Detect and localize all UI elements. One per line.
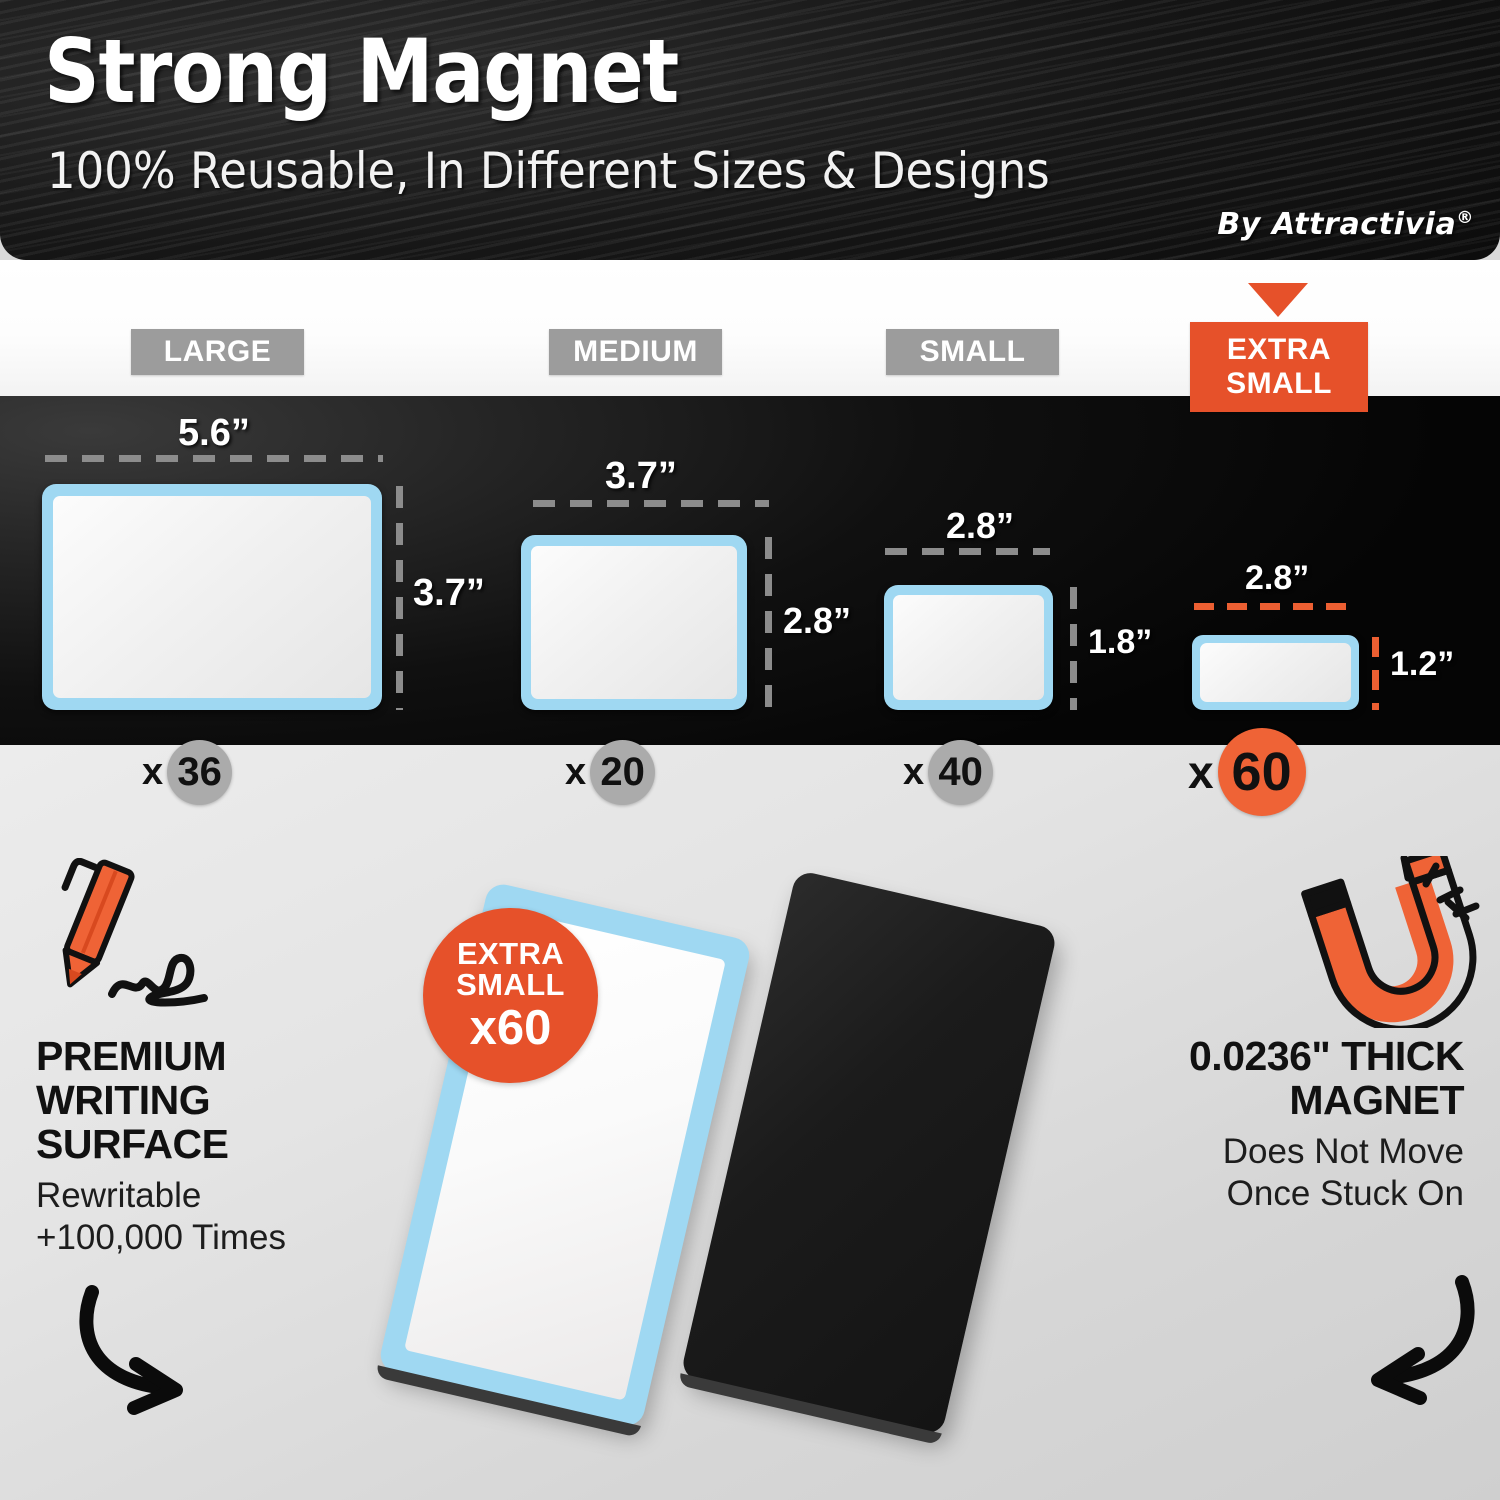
feature-right: 0.0236" THICK MAGNET Does Not Move Once … bbox=[1124, 1035, 1464, 1215]
medium-height-dashline bbox=[765, 537, 772, 710]
page-subtitle: 100% Reusable, In Different Sizes & Desi… bbox=[47, 146, 1050, 196]
size-chip-medium-label: MEDIUM bbox=[573, 335, 698, 369]
quantity-small-prefix: x bbox=[903, 751, 924, 794]
quantity-large-value: 36 bbox=[167, 740, 232, 805]
feature-left-title-line1: PREMIUM bbox=[36, 1035, 366, 1079]
extra-small-height-label: 1.2” bbox=[1390, 645, 1454, 684]
small-width-label: 2.8” bbox=[946, 505, 1014, 547]
feature-left-title-line2: WRITING bbox=[36, 1079, 366, 1123]
quantity-extra-small-value: 60 bbox=[1218, 728, 1306, 816]
quantity-small: x 40 bbox=[903, 740, 993, 805]
extra-small-height-dashline bbox=[1372, 637, 1379, 710]
feature-right-title-line2: MAGNET bbox=[1124, 1079, 1464, 1123]
magnet-small bbox=[884, 585, 1053, 710]
feature-right-sub-line2: Once Stuck On bbox=[1124, 1173, 1464, 1215]
header-banner: Strong Magnet 100% Reusable, In Differen… bbox=[0, 0, 1500, 260]
magnet-small-face bbox=[893, 595, 1044, 700]
magnet-extra-small bbox=[1192, 635, 1359, 710]
medium-height-label: 2.8” bbox=[783, 600, 851, 642]
quantity-small-value: 40 bbox=[928, 740, 993, 805]
curved-arrow-down-right-icon bbox=[62, 1278, 262, 1423]
large-height-label: 3.7” bbox=[413, 572, 485, 615]
magnet-medium bbox=[521, 535, 747, 710]
brand-name: By Attractivia bbox=[1217, 207, 1456, 242]
page-title: Strong Magnet bbox=[44, 28, 678, 116]
feature-left-sub-line1: Rewritable bbox=[36, 1175, 366, 1217]
size-chip-large-label: LARGE bbox=[164, 335, 272, 369]
product-badge-line1: EXTRA bbox=[457, 938, 564, 969]
small-height-label: 1.8” bbox=[1088, 623, 1152, 662]
small-height-dashline bbox=[1070, 587, 1077, 710]
size-chip-extra-small-label-line1: EXTRA bbox=[1227, 333, 1331, 367]
quantity-large-prefix: x bbox=[142, 751, 163, 794]
size-chip-medium: MEDIUM bbox=[549, 329, 722, 375]
feature-left-title: PREMIUM WRITING SURFACE bbox=[36, 1035, 366, 1167]
quantity-extra-small: x 60 bbox=[1188, 728, 1306, 816]
pen-writing-icon bbox=[38, 858, 258, 1018]
feature-left-sub-line2: +100,000 Times bbox=[36, 1217, 366, 1259]
feature-right-title-line1: 0.0236" THICK bbox=[1124, 1035, 1464, 1079]
large-width-dashline bbox=[45, 455, 383, 462]
curved-arrow-down-left-icon bbox=[1292, 1268, 1492, 1413]
extra-small-width-label: 2.8” bbox=[1245, 559, 1309, 598]
magnet-medium-face bbox=[531, 546, 737, 699]
feature-right-title: 0.0236" THICK MAGNET bbox=[1124, 1035, 1464, 1123]
large-height-dashline bbox=[396, 486, 403, 710]
product-quantity-badge: EXTRA SMALL x60 bbox=[423, 908, 598, 1083]
feature-right-sub-line1: Does Not Move bbox=[1124, 1131, 1464, 1173]
feature-left: PREMIUM WRITING SURFACE Rewritable +100,… bbox=[36, 1035, 366, 1259]
feature-right-subtitle: Does Not Move Once Stuck On bbox=[1124, 1131, 1464, 1215]
extra-small-width-dashline bbox=[1194, 603, 1357, 610]
size-chip-small: SMALL bbox=[886, 329, 1059, 375]
product-badge-line2: SMALL bbox=[456, 969, 565, 1002]
small-width-dashline bbox=[885, 548, 1050, 555]
magnet-large-face bbox=[53, 496, 371, 698]
size-chip-extra-small-label-line2: SMALL bbox=[1226, 367, 1332, 401]
size-chip-large: LARGE bbox=[131, 329, 304, 375]
brand-label: By Attractivia® bbox=[1217, 207, 1474, 242]
registered-trademark-icon: ® bbox=[1456, 208, 1474, 228]
quantity-medium: x 20 bbox=[565, 740, 655, 805]
extra-small-pointer-arrow-icon bbox=[1248, 283, 1308, 317]
quantity-medium-value: 20 bbox=[590, 740, 655, 805]
size-chip-small-label: SMALL bbox=[920, 335, 1026, 369]
horseshoe-magnet-icon bbox=[1296, 856, 1496, 1028]
quantity-medium-prefix: x bbox=[565, 751, 586, 794]
quantity-large: x 36 bbox=[142, 740, 232, 805]
magnet-large bbox=[42, 484, 382, 710]
quantity-extra-small-prefix: x bbox=[1188, 745, 1214, 799]
medium-width-label: 3.7” bbox=[605, 455, 677, 498]
large-width-label: 5.6” bbox=[178, 412, 250, 455]
product-badge-line3: x60 bbox=[470, 1004, 552, 1053]
feature-left-title-line3: SURFACE bbox=[36, 1123, 366, 1167]
feature-left-subtitle: Rewritable +100,000 Times bbox=[36, 1175, 366, 1259]
medium-width-dashline bbox=[533, 500, 769, 507]
size-chip-extra-small: EXTRA SMALL bbox=[1190, 322, 1368, 412]
infographic-page: Strong Magnet 100% Reusable, In Differen… bbox=[0, 0, 1500, 1500]
magnet-extra-small-face bbox=[1200, 643, 1351, 702]
